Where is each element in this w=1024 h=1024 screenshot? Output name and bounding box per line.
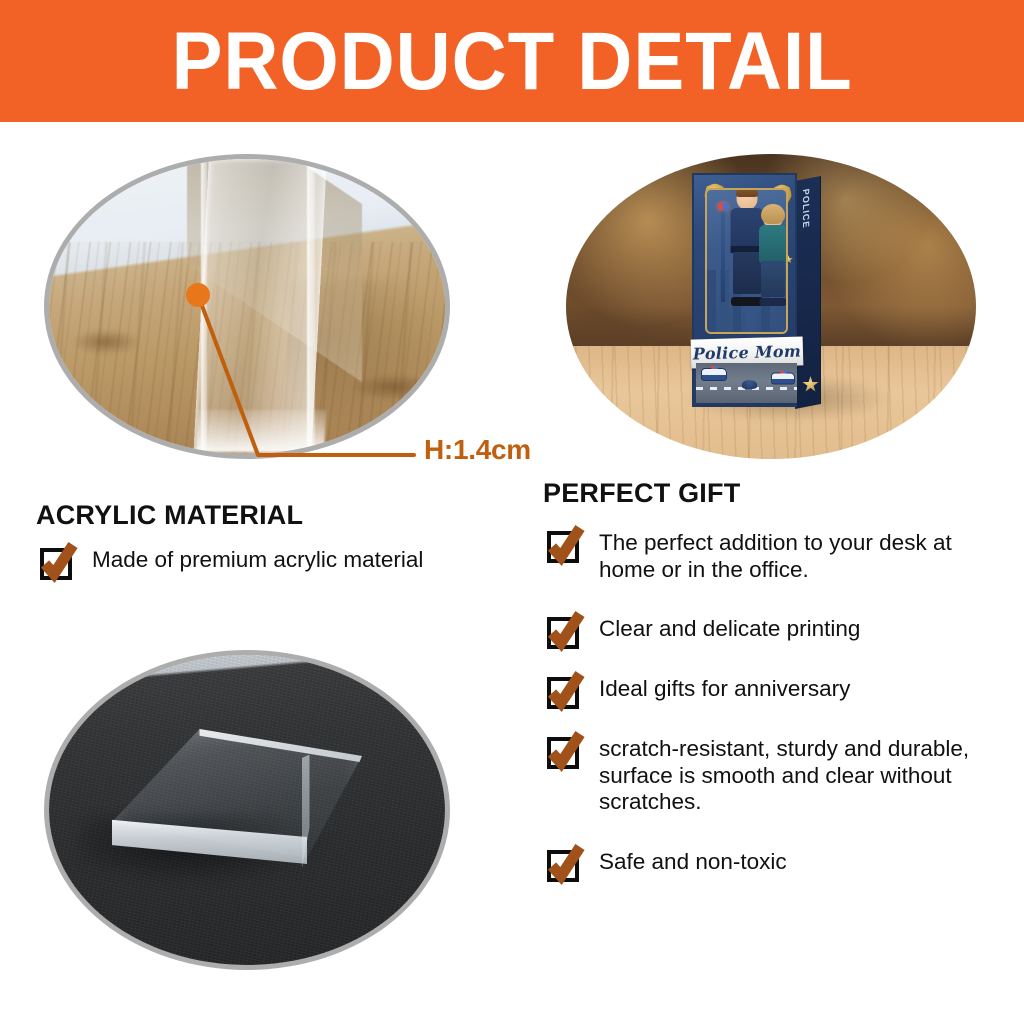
feature-item: Ideal gifts for anniversary <box>543 669 1003 709</box>
section-heading-perfect-gift: PERFECT GIFT <box>543 478 740 509</box>
checked-checkbox-icon <box>543 523 583 563</box>
police-car-icon <box>771 373 795 385</box>
page-title: PRODUCT DETAIL <box>172 21 853 103</box>
police-car-icon <box>701 368 727 381</box>
police-mom-product-box: POLICE <box>692 173 818 407</box>
slab-bottom-glow <box>196 410 326 452</box>
feature-list-perfect-gift: The perfect addition to your desk at hom… <box>543 523 1003 908</box>
feature-list-acrylic-material: Made of premium acrylic material <box>36 540 516 602</box>
feature-item: Made of premium acrylic material <box>36 540 516 580</box>
figure-jeans <box>761 261 785 297</box>
feature-item: Safe and non-toxic <box>543 842 1003 882</box>
feature-text: scratch-resistant, sturdy and durable, s… <box>599 729 1003 816</box>
checked-checkbox-icon <box>543 729 583 769</box>
wood-floor-scene <box>49 159 445 454</box>
feature-item: Clear and delicate printing <box>543 609 1003 649</box>
acrylic-block-object <box>112 729 362 879</box>
box-front-panel: Police Mom <box>692 173 797 407</box>
check-mark-icon <box>552 734 580 763</box>
checked-checkbox-icon <box>36 540 76 580</box>
figure-shoes <box>759 298 786 306</box>
feature-text: The perfect addition to your desk at hom… <box>599 523 1003 583</box>
mom-figure <box>757 206 788 304</box>
feature-item: The perfect addition to your desk at hom… <box>543 523 1003 583</box>
figure-hair <box>736 188 758 197</box>
check-mark-icon <box>552 614 580 643</box>
slate-surface-scene <box>49 655 445 965</box>
figure-hair <box>761 204 785 224</box>
checked-checkbox-icon <box>543 609 583 649</box>
feature-text: Made of premium acrylic material <box>92 540 423 574</box>
photo-product-box: POLICE <box>566 154 976 459</box>
bokeh-background-scene: POLICE <box>566 154 976 459</box>
box-display-window <box>705 188 788 334</box>
box-title-text: Police Mom <box>693 341 802 363</box>
feature-text: Clear and delicate printing <box>599 609 860 643</box>
wood-knot <box>71 329 141 355</box>
police-light-icon <box>718 203 728 210</box>
product-detail-header-banner: PRODUCT DETAIL <box>0 0 1024 122</box>
check-mark-icon <box>552 674 580 703</box>
check-mark-icon <box>552 528 580 557</box>
check-mark-icon <box>45 545 73 574</box>
feature-text: Safe and non-toxic <box>599 842 787 876</box>
police-hat-icon <box>742 380 757 389</box>
feature-item: scratch-resistant, sturdy and durable, s… <box>543 729 1003 816</box>
checked-checkbox-icon <box>543 669 583 709</box>
figure-sweater <box>759 225 787 263</box>
check-mark-icon <box>552 847 580 876</box>
feature-text: Ideal gifts for anniversary <box>599 669 850 703</box>
box-side-label: POLICE <box>801 188 811 229</box>
dimension-label: H:1.4cm <box>424 434 531 466</box>
street-light-icon <box>721 208 725 302</box>
section-heading-acrylic-material: ACRYLIC MATERIAL <box>36 500 303 531</box>
photo-acrylic-block <box>44 650 450 970</box>
checked-checkbox-icon <box>543 842 583 882</box>
photo-acrylic-slab-edge <box>44 154 450 459</box>
road-graphic <box>696 363 797 403</box>
box-side-panel: POLICE <box>795 176 821 409</box>
